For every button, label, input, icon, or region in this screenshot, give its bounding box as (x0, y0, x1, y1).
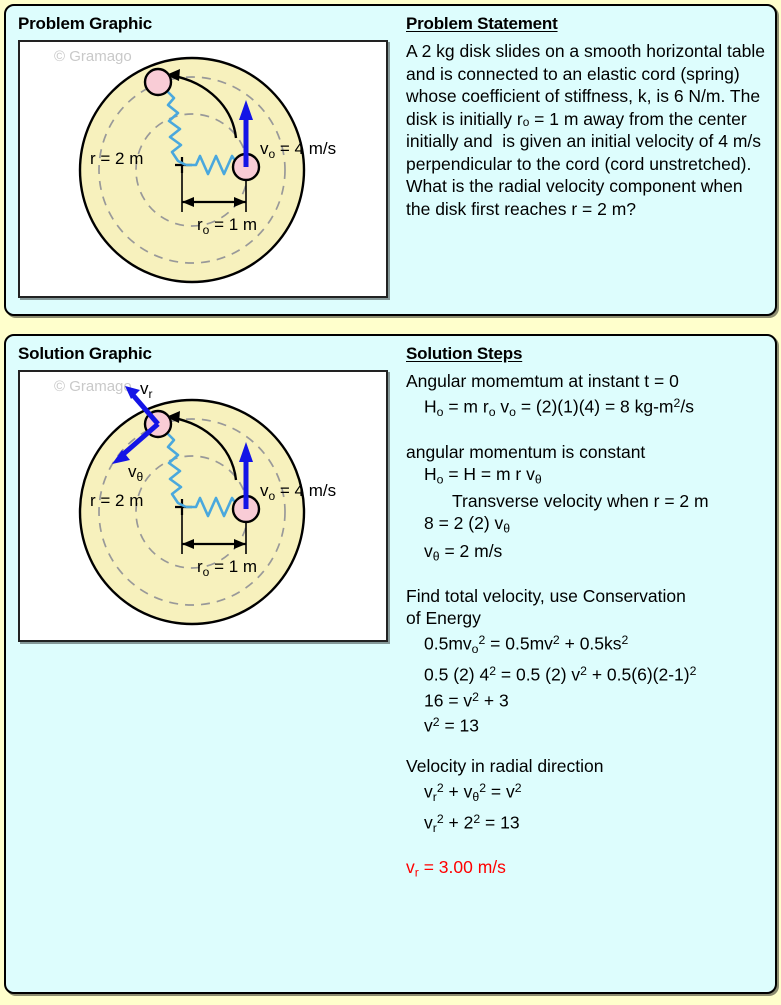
step-spacer (406, 423, 772, 441)
problem-statement-title: Problem Statement (406, 14, 772, 34)
step-energy-equation-1: 0.5mvo2 = 0.5mv2 + 0.5ks2 (406, 629, 772, 660)
label-radius-2m: r = 2 m (90, 491, 143, 510)
problem-diagram: r = 2 m ro = 1 m vo = 4 m/s (20, 42, 386, 296)
step-final-answer: vr = 3.00 m/s (406, 856, 772, 883)
step-energy-equation-3: 16 = v2 + 3 (406, 686, 772, 712)
solution-diagram: vr vθ r = 2 m ro = 1 m vo = 4 m/s (20, 372, 386, 640)
step-const-heading: angular momentum is constant (406, 441, 772, 463)
step-energy-equation-2: 0.5 (2) 42 = 0.5 (2) v2 + 0.5(6)(2-1)2 (406, 660, 772, 686)
step-radial-heading: Velocity in radial direction (406, 755, 772, 777)
step-solve-vtheta: 8 = 2 (2) vθ (406, 512, 772, 539)
problem-statement-text: A 2 kg disk slides on a smooth horizonta… (406, 40, 770, 220)
step-spacer (406, 737, 772, 755)
problem-statement-column: Problem Statement A 2 kg disk slides on … (402, 12, 772, 220)
step-radial-equation-1: vr2 + vθ2 = v2 (406, 777, 772, 808)
problem-solution-page: Problem Graphic © Gramago (0, 0, 781, 1005)
solution-graphic-title: Solution Graphic (18, 344, 396, 364)
step-radial-equation-2: vr2 + 22 = 13 (406, 808, 772, 839)
step-energy-equation-4: v2 = 13 (406, 711, 772, 737)
solution-steps-list: Angular momemtum at instant t = 0Ho = m … (406, 370, 772, 884)
solution-panel: Solution Graphic © Gramago (4, 334, 777, 994)
problem-graphic-box: © Gramago (18, 40, 388, 298)
table-circle (80, 58, 304, 282)
solution-steps-column: Solution Steps Angular momemtum at insta… (402, 342, 772, 884)
solution-graphic-box: © Gramago (18, 370, 388, 642)
table-circle (80, 400, 304, 624)
solution-steps-title: Solution Steps (406, 344, 772, 364)
solution-graphic-column: Solution Graphic © Gramago (14, 342, 396, 998)
step-ang-mom-heading: Angular momemtum at instant t = 0 (406, 370, 772, 392)
step-spacer (406, 838, 772, 856)
label-v-radial: vr (140, 379, 153, 401)
disk-final (145, 69, 171, 95)
step-transverse-note: Transverse velocity when r = 2 m (406, 490, 772, 512)
step-ho-equation: Ho = m ro vo = (2)(1)(4) = 8 kg-m2/s (406, 392, 772, 423)
step-energy-heading-1: Find total velocity, use Conservation (406, 585, 772, 607)
step-ho-h-equation: Ho = H = m r vθ (406, 463, 772, 490)
step-spacer (406, 567, 772, 585)
problem-panel: Problem Graphic © Gramago (4, 4, 777, 316)
step-vtheta-result: vθ = 2 m/s (406, 540, 772, 567)
problem-graphic-title: Problem Graphic (18, 14, 396, 34)
label-radius-2m: r = 2 m (90, 149, 143, 168)
step-energy-heading-2: of Energy (406, 607, 772, 629)
problem-graphic-column: Problem Graphic © Gramago (14, 12, 396, 320)
